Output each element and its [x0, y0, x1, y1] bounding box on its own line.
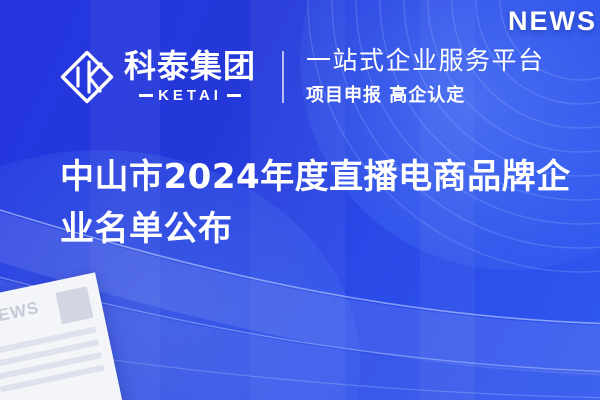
dash-left-decoration	[139, 94, 153, 97]
newspaper-masthead: NEWS	[0, 299, 41, 327]
brand-name-cn: 科泰集团	[124, 50, 256, 84]
newspaper-text-lines	[0, 326, 105, 392]
brand-header: 科泰集团 KETAI 一站式企业服务平台 项目申报 高企认定	[58, 44, 545, 110]
brand-wordmark: 科泰集团 KETAI	[124, 50, 256, 104]
page-title: 中山市2024年度直播电商品牌企业名单公布	[60, 152, 580, 255]
brand-name-en: KETAI	[158, 87, 222, 104]
brand-name-en-row: KETAI	[139, 87, 241, 104]
news-banner: NEWS 科泰集团 KETAI	[0, 0, 600, 400]
tagline-group: 一站式企业服务平台 项目申报 高企认定	[306, 47, 545, 107]
header-divider	[282, 51, 284, 103]
image-placeholder-icon	[55, 286, 93, 324]
news-badge: NEWS	[508, 6, 597, 37]
tagline-primary: 一站式企业服务平台	[306, 47, 545, 76]
ketai-diamond-kp-logo-icon	[58, 48, 116, 106]
dash-right-decoration	[227, 94, 241, 97]
tagline-secondary: 项目申报 高企认定	[306, 81, 545, 107]
